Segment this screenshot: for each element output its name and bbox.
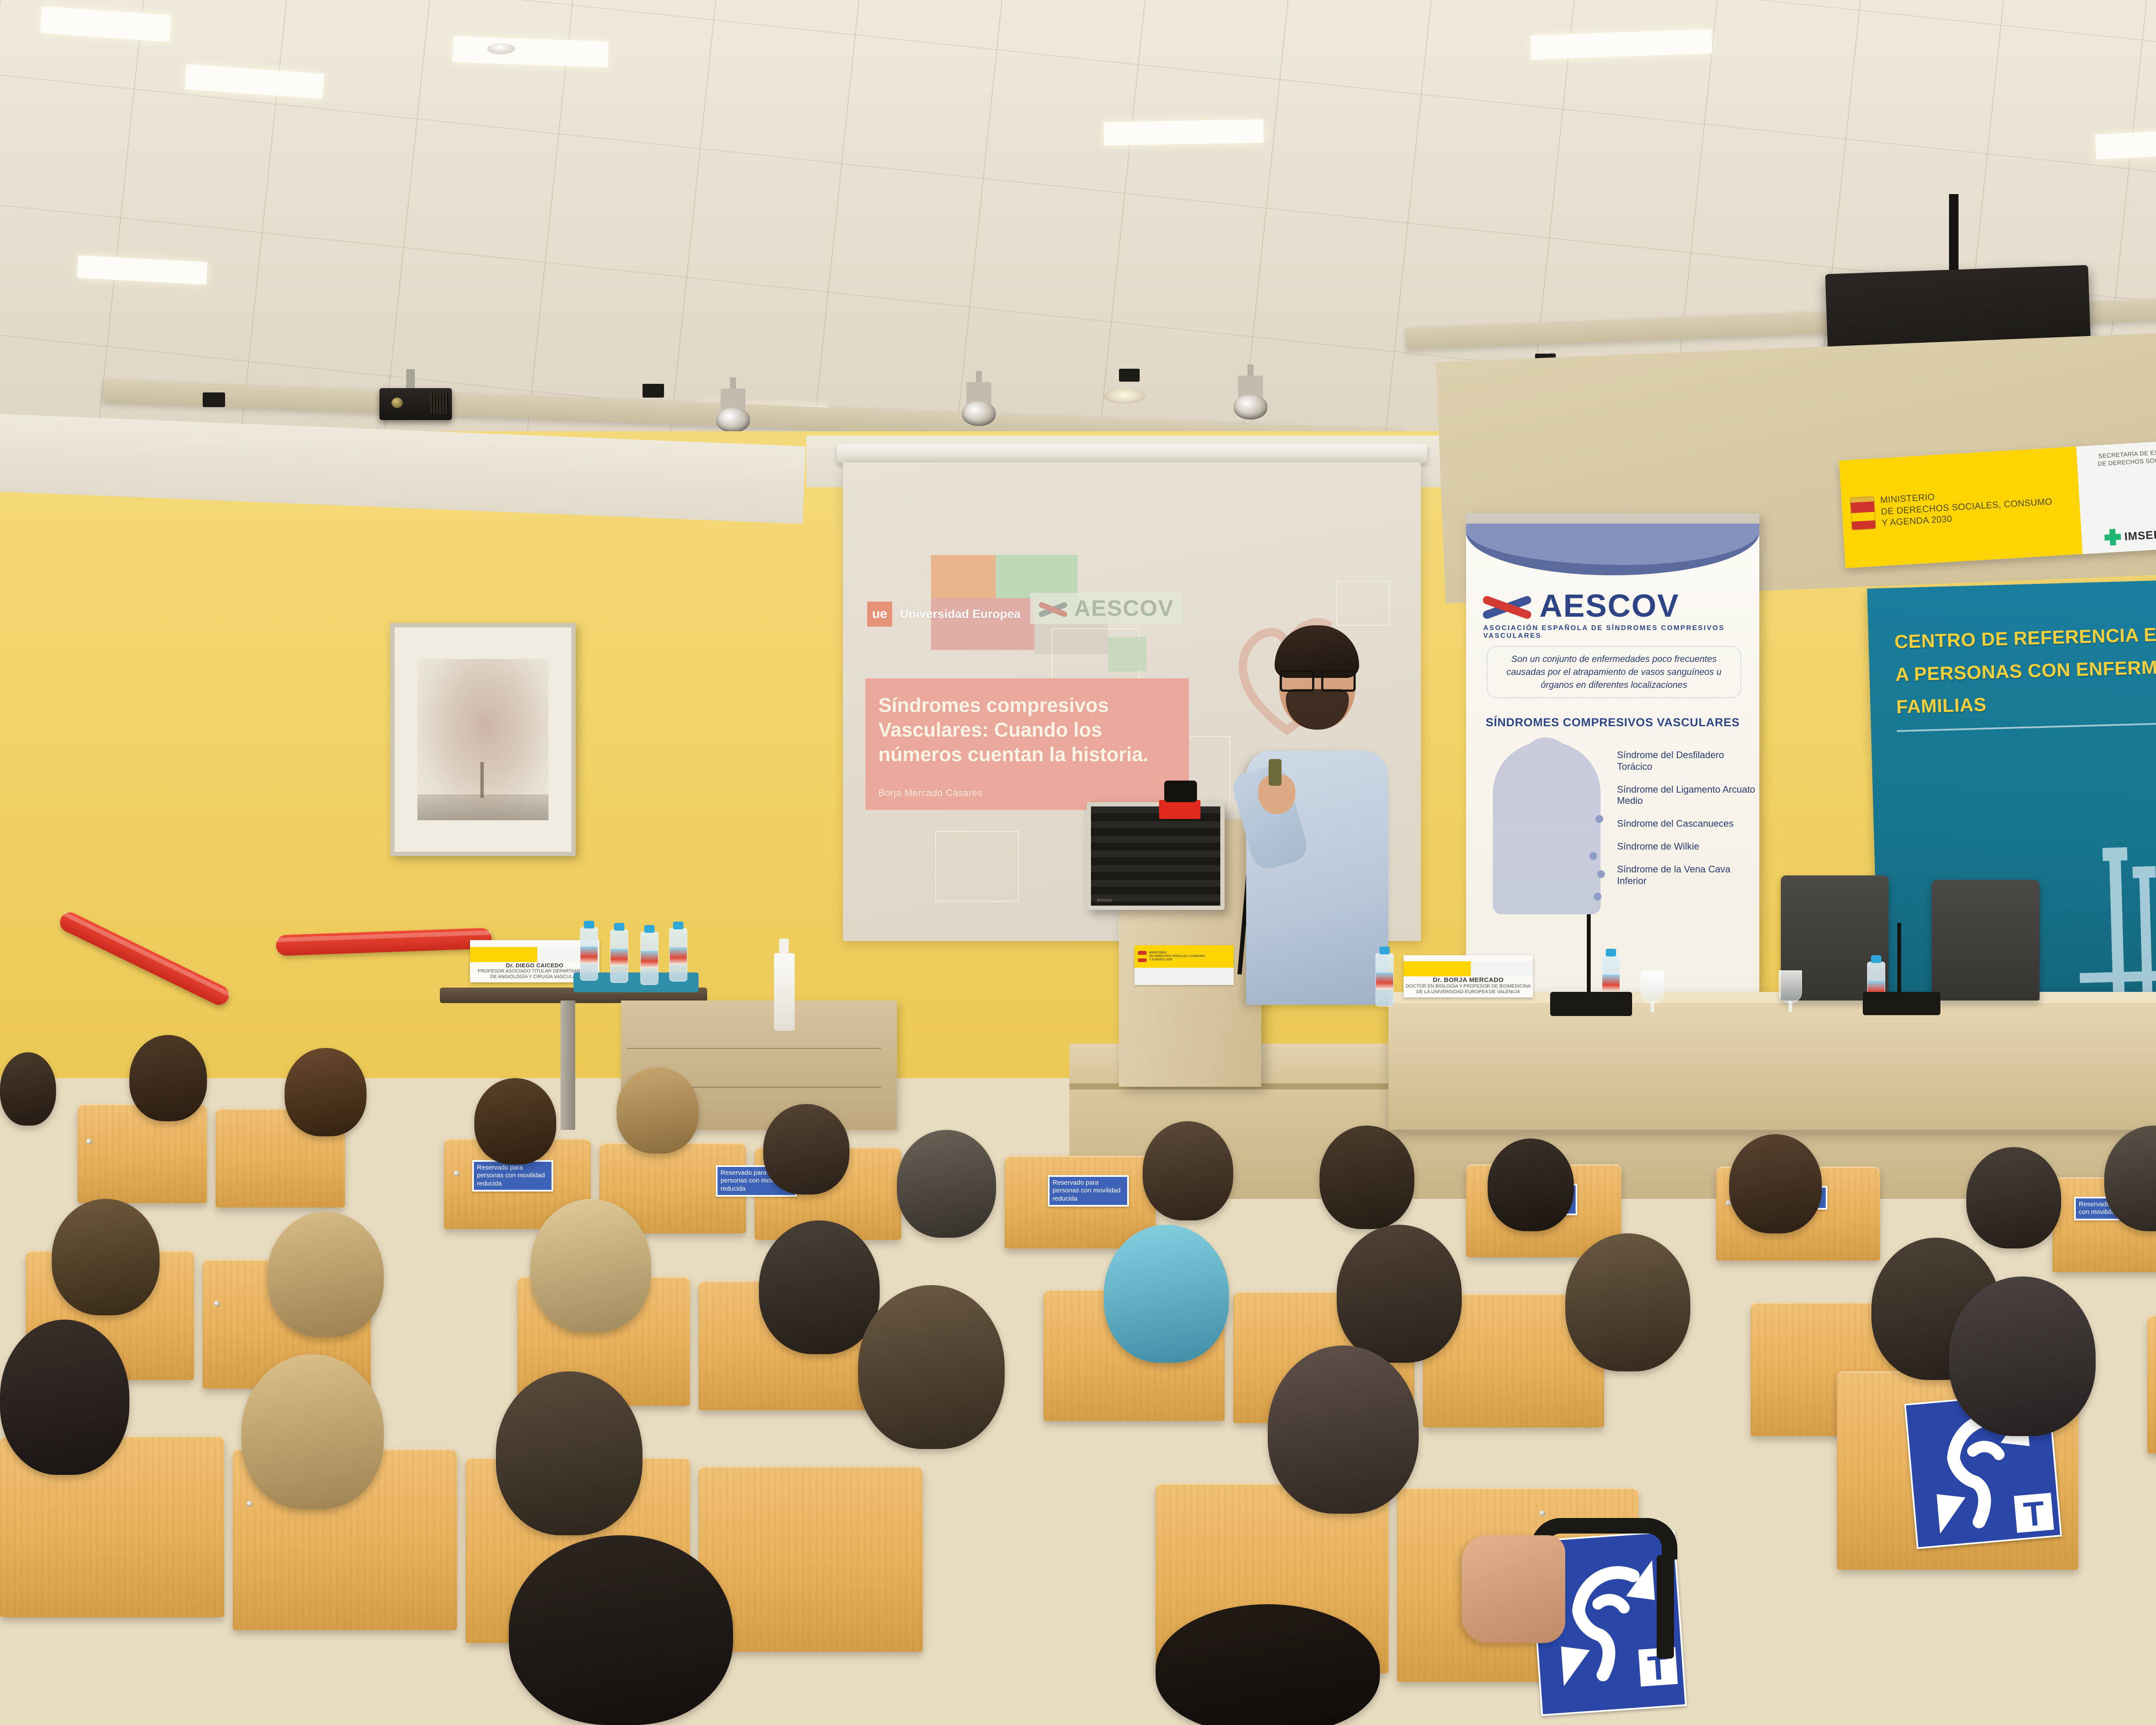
- panel-chair[interactable]: [1932, 880, 2040, 1000]
- reserved-seat-placard: Reservado para personas con movilidad re…: [1048, 1175, 1129, 1207]
- cane-shaft: [1657, 1555, 1674, 1659]
- audience-head: [530, 1199, 651, 1333]
- spanish-coat-of-arms-icon: [1138, 951, 1147, 962]
- ministry-sign-yellow-panel: MINISTERIO DE DERECHOS SOCIALES, CONSUMO…: [1839, 446, 2083, 568]
- ue-mark: ue: [867, 602, 892, 627]
- list-item: Síndrome de Wilkie: [1617, 841, 1759, 853]
- audience-head: [1729, 1134, 1822, 1233]
- aescov-x-icon: [1482, 592, 1532, 620]
- ceiling-light-panel: [1104, 119, 1264, 145]
- water-bottle[interactable]: [640, 931, 658, 985]
- audience-head: [763, 1104, 849, 1195]
- audience-head: [1966, 1147, 2061, 1248]
- head-table: [1388, 992, 2156, 1130]
- projector-lens-icon: [392, 398, 403, 408]
- ministry-sign-grey-panel: SECRETARÍA DE ESTADO DE DERECHOS SOCIALE…: [2076, 439, 2156, 554]
- slide-aescov-logo: AESCOV: [1030, 593, 1182, 624]
- lectern-monitor: lenovo: [1087, 802, 1225, 910]
- nameplate-borja-mercado: Dr. BORJA MERCADO DOCTOR EN BIOLOGÍA Y P…: [1404, 955, 1533, 997]
- audience-head: [1337, 1225, 1462, 1363]
- imserso-logo: IMSERSO: [2104, 525, 2156, 546]
- ue-name: Universidad Europea: [900, 608, 1021, 621]
- list-item: Síndrome del Ligamento Arcuato Medio: [1617, 784, 1759, 807]
- audience-head: [285, 1048, 367, 1136]
- slide-aescov-text: AESCOV: [1074, 596, 1174, 621]
- wine-glass[interactable]: [1641, 970, 1664, 1003]
- presenter-beard: [1286, 689, 1349, 730]
- audience-head: [1488, 1138, 1574, 1231]
- ministry-sign-text: MINISTERIO DE DERECHOS SOCIALES, CONSUMO…: [1880, 485, 2053, 530]
- list-item: Síndrome del Desfiladero Torácico: [1617, 750, 1759, 773]
- rollup-brand-lockup: AESCOV: [1482, 587, 1680, 624]
- projector-body: [379, 388, 452, 420]
- list-item: Síndrome del Cascanueces: [1617, 818, 1759, 830]
- audience-head: [1268, 1345, 1419, 1514]
- universidad-europea-logo: ue Universidad Europea: [867, 602, 1021, 627]
- slide-author: Borja Mercado Casares: [878, 787, 1176, 799]
- audience-head: [0, 1052, 56, 1126]
- audience-head: [52, 1199, 160, 1315]
- artwork-tree-image: [417, 659, 548, 820]
- smoke-detector-icon: [487, 43, 515, 54]
- walking-cane[interactable]: [1531, 1518, 1686, 1656]
- imserso-cross-icon: [2104, 529, 2122, 546]
- tv-ceiling-pole: [1949, 194, 1959, 272]
- nameplate-name: Dr. DIEGO CAICEDO: [506, 962, 563, 969]
- sanitizer-pump-icon[interactable]: [779, 938, 789, 954]
- lectern-plate-grey: [1134, 968, 1234, 985]
- water-bottle[interactable]: [580, 927, 598, 981]
- nameplate-role-line1: DOCTOR EN BIOLOGÍA Y PROFESOR DE BIOMEDI…: [1406, 984, 1531, 989]
- ceiling-sensor: [642, 384, 664, 398]
- audience-head: [1949, 1276, 2096, 1436]
- audience-head: [858, 1285, 1005, 1449]
- rollup-top-rail: [1466, 513, 1759, 524]
- lectern-ministry-plate: MINISTERIO DE DERECHOS SOCIALES, CONSUMO…: [1134, 945, 1234, 985]
- microphone-base: [1863, 992, 1940, 1015]
- projector-vent: [430, 393, 448, 414]
- artwork-mat: [395, 627, 571, 852]
- aescov-rollup-banner: AESCOV ASOCIACIÓN ESPAÑOLA DE SÍNDROMES …: [1466, 513, 1759, 1013]
- audience-head: [1319, 1126, 1414, 1229]
- backdrop-heading: CENTRO DE REFERENCIA ESTATAL DE ATENCIÓN…: [1894, 610, 2156, 724]
- auditorium-scene: ue Universidad Europea AESCOV Síndromes …: [0, 0, 2156, 1725]
- nameplate-logo-band: [1404, 961, 1533, 976]
- audience-head: [496, 1371, 642, 1535]
- svg-text:T: T: [2022, 1494, 2046, 1534]
- backdrop-line1: CENTRO DE REFERENCIA ESTATAL DE ATENCIÓN: [1894, 618, 2156, 652]
- monitor-screen: [1091, 806, 1220, 906]
- rollup-syndrome-list: Síndrome del Desfiladero Torácico Síndro…: [1617, 750, 1759, 898]
- audience-head: [1565, 1233, 1690, 1371]
- audience-head: [241, 1354, 384, 1509]
- list-item: Síndrome de la Vena Cava Inferior: [1617, 864, 1759, 887]
- water-bottle[interactable]: [669, 928, 687, 982]
- side-table-leg: [561, 1000, 575, 1130]
- water-bottle[interactable]: [1376, 953, 1394, 1007]
- lectern-plate-text: MINISTERIO DE DERECHOS SOCIALES, CONSUMO…: [1149, 951, 1205, 961]
- ceiling-sensor: [1119, 369, 1140, 382]
- nameplate-role-line2: DE ANGIOLOGÍA Y CIRUGÍA VASCULAR: [490, 974, 579, 980]
- slide-title: Síndromes compresivos Vasculares: Cuando…: [878, 693, 1176, 767]
- rollup-description: Son un conjunto de enfermedades poco fre…: [1487, 646, 1741, 698]
- presentation-clicker[interactable]: [1269, 759, 1282, 786]
- rollup-subtitle: ASOCIACIÓN ESPAÑOLA DE SÍNDROMES COMPRES…: [1483, 624, 1746, 640]
- lectern-plate-yellow: MINISTERIO DE DERECHOS SOCIALES, CONSUMO…: [1134, 945, 1234, 968]
- nameplate-name: Dr. BORJA MERCADO: [1433, 976, 1504, 984]
- wine-glass[interactable]: [1779, 970, 1802, 1003]
- slide-title-card: Síndromes compresivos Vasculares: Cuando…: [865, 678, 1189, 810]
- projection-screen-case: [837, 444, 1427, 463]
- audience-head: [897, 1130, 996, 1238]
- auditorium-seat[interactable]: [2147, 1315, 2156, 1453]
- audience-head: [617, 1067, 699, 1154]
- rollup-brand-name: AESCOV: [1539, 587, 1680, 624]
- reserved-seat-text: Reservado para personas con movilidad re…: [1050, 1177, 1127, 1205]
- audience-head: [267, 1212, 384, 1337]
- webcam-icon: [1164, 781, 1197, 802]
- audience-head-foreground: [509, 1535, 733, 1725]
- hand-sanitizer-bottle[interactable]: [774, 953, 795, 1031]
- backdrop-line2: A PERSONAS CON ENFERMEDADES RARAS Y SUS …: [1895, 651, 2156, 718]
- ceiling-sensor: [203, 392, 225, 407]
- spanish-coat-of-arms-icon: [1850, 496, 1876, 530]
- secretariat-text: SECRETARÍA DE ESTADO DE DERECHOS SOCIALE…: [2097, 448, 2156, 468]
- rollup-figure-silhouette: [1493, 742, 1601, 914]
- audience-head: [129, 1035, 207, 1121]
- audience-head: [759, 1220, 880, 1354]
- rollup-section-title: SÍNDROMES COMPRESIVOS VASCULARES: [1466, 716, 1759, 729]
- water-bottle[interactable]: [610, 929, 628, 983]
- audience-head: [1104, 1225, 1229, 1363]
- table-microphone-stem: [1587, 914, 1591, 1005]
- framed-artwork: [390, 623, 576, 856]
- ministry-wall-sign: MINISTERIO DE DERECHOS SOCIALES, CONSUMO…: [1839, 439, 2156, 568]
- nameplate-role-line2: DE LA UNIVERSIDAD EUROPEA DE VALENCIA: [1416, 989, 1520, 995]
- microphone-base: [1550, 992, 1632, 1016]
- imserso-name: IMSERSO: [2124, 527, 2156, 543]
- aescov-x-icon: [1038, 600, 1068, 617]
- audience-head-foreground: [1156, 1604, 1380, 1725]
- reserved-seat-text: Reservado para personas con movilidad re…: [474, 1162, 552, 1190]
- audience-head: [474, 1078, 556, 1164]
- recessed-downlight: [1104, 388, 1145, 404]
- attendee-hand: [1462, 1535, 1565, 1643]
- ceiling-light-panel: [452, 36, 608, 68]
- reserved-seat-placard: Reservado para personas con movilidad re…: [472, 1160, 553, 1192]
- audience-head: [1143, 1121, 1233, 1220]
- eyeglasses-icon: [1280, 670, 1356, 687]
- monitor-brand-label: lenovo: [1097, 897, 1112, 903]
- presenter-person: [1246, 617, 1388, 1005]
- auditorium-seat[interactable]: [78, 1104, 207, 1203]
- monitor-red-tape: [1159, 800, 1200, 819]
- audience-head-foreground: [0, 1320, 129, 1475]
